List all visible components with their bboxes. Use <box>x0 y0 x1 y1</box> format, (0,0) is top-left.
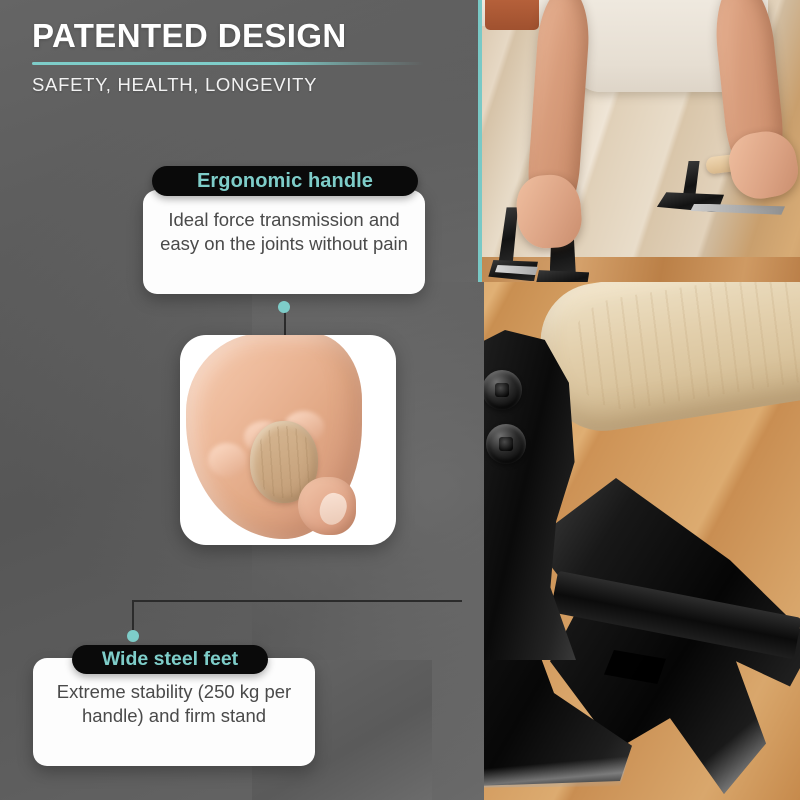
callout-title-pill-2: Wide steel feet <box>72 645 268 674</box>
page-subtitle: SAFETY, HEALTH, LONGEVITY <box>32 74 452 96</box>
teal-vertical-divider <box>478 0 482 322</box>
bar-foot-highlight-right <box>690 204 785 215</box>
lifestyle-photo-pushups <box>482 0 800 330</box>
callout-body-1: Ideal force transmission and easy on the… <box>153 208 415 255</box>
connector-dot-1 <box>278 301 290 313</box>
knuckle-1 <box>208 443 246 477</box>
product-bolt-lower <box>486 424 526 464</box>
callout-title-pill-1: Ergonomic handle <box>152 166 418 196</box>
connector-line-2-vertical <box>132 601 134 633</box>
bar-post-left-a <box>498 207 518 265</box>
page-title: PATENTED DESIGN <box>32 18 452 54</box>
title-underline-rule <box>32 62 424 65</box>
callout-body-2: Extreme stability (250 kg per handle) an… <box>43 680 305 727</box>
product-infographic: PATENTED DESIGN SAFETY, HEALTH, LONGEVIT… <box>0 0 800 800</box>
wood-grain-texture <box>561 282 800 417</box>
inset-photo-hand-on-handle <box>180 335 396 545</box>
header-block: PATENTED DESIGN SAFETY, HEALTH, LONGEVIT… <box>32 18 452 96</box>
planter-pot <box>485 0 539 30</box>
product-bolt-upper <box>482 370 522 410</box>
connector-dot-2 <box>127 630 139 642</box>
connector-line-2-horizontal <box>132 600 462 602</box>
